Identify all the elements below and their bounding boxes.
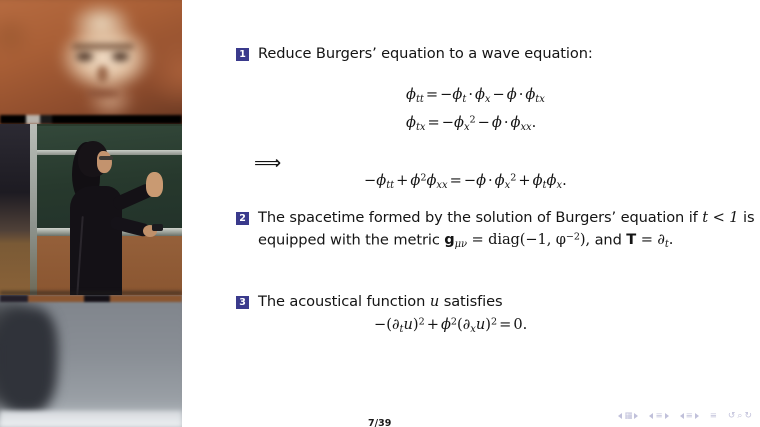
nav-prev-section-icon[interactable] <box>680 413 684 419</box>
nav-next-slide-icon[interactable] <box>634 413 638 419</box>
nav-group-document[interactable]: ≡ <box>710 412 717 421</box>
enumerate-marker-2: 2 <box>236 212 249 225</box>
metric-symbol-g: g <box>444 231 454 248</box>
enumerate-item-3: 3 The acoustical function u satisfies <box>236 292 503 312</box>
panel-bottom-strip <box>0 115 182 124</box>
nav-group-slide[interactable]: ▦ <box>618 412 638 421</box>
presentation-clicker <box>152 224 163 231</box>
vector-symbol-T: T <box>626 231 636 248</box>
item-2-part-b-post: and <box>595 231 622 248</box>
speaker-glasses <box>99 156 113 160</box>
face-eye-left <box>76 52 93 61</box>
face-nose <box>97 66 108 83</box>
nav-section-icon[interactable]: ≡ <box>686 412 693 421</box>
panel-top-strip <box>0 295 182 302</box>
audience-foreground-silhouette <box>0 309 56 413</box>
item-3-post: satisfies <box>444 293 503 310</box>
speaker-hand-raised <box>146 172 163 197</box>
enumerate-item-2-text: The spacetime formed by the solution of … <box>258 208 756 254</box>
enumerate-marker-3: 3 <box>236 296 249 309</box>
enumerate-item-1-text: Reduce Burgers’ equation to a wave equat… <box>258 44 593 64</box>
item-3-pre: The acoustical function <box>258 293 425 310</box>
video-panel-speaker-face-closeup[interactable] <box>0 0 182 124</box>
face-brow <box>72 44 134 49</box>
video-column <box>0 0 182 427</box>
equation-phi-tx: ϕtx=−ϕx2−ϕ·ϕxx. <box>406 114 536 133</box>
condition-t-less-than-one: t < 1 <box>702 209 738 226</box>
enumerate-marker-1: 1 <box>236 48 249 61</box>
metric-exponent: −2 <box>566 232 580 243</box>
equation-phi-tt-render: ϕtt=−ϕt·ϕx−ϕ·ϕtx <box>406 86 545 103</box>
equation-eikonal: −(∂tu)2+ϕ2(∂xu)2=0. <box>374 316 527 335</box>
metric-close: ), <box>580 231 590 248</box>
slide-content: 1 Reduce Burgers’ equation to a wave equ… <box>182 0 760 427</box>
enumerate-item-3-text: The acoustical function u satisfies <box>258 292 503 312</box>
door-frame <box>30 124 37 295</box>
speaker-face <box>97 151 112 173</box>
metric-tensor-expression: gμν = diag(−1, φ−2), <box>444 231 590 248</box>
equation-phi-tt: ϕtt=−ϕt·ϕx−ϕ·ϕtx <box>406 86 545 105</box>
face-closeup-backdrop <box>0 0 182 124</box>
nav-prev-slide-icon[interactable] <box>618 413 622 419</box>
nav-group-subsection[interactable]: ≡ <box>649 412 668 421</box>
equation-phi-tx-render: ϕtx=−ϕx2−ϕ·ϕxx. <box>406 114 536 131</box>
audience-desk-edge <box>0 411 182 427</box>
metric-indices: μν <box>455 239 467 250</box>
enumerate-item-1: 1 Reduce Burgers’ equation to a wave equ… <box>236 44 593 64</box>
nav-next-section-icon[interactable] <box>695 413 699 419</box>
nav-slide-icon[interactable]: ▦ <box>624 412 632 421</box>
equation-wave-form: −ϕtt+ϕ2ϕxx=−ϕ·ϕx2+ϕtϕx. <box>364 172 567 191</box>
equation-eikonal-render: −(∂tu)2+ϕ2(∂xu)2=0. <box>374 316 527 333</box>
metric-diag-open: = diag(−1, φ <box>471 231 565 248</box>
face-mouth <box>86 90 120 97</box>
face-eye-right <box>112 52 129 61</box>
implies-arrow: ⟹ <box>254 152 281 174</box>
presentation-screen: 1 Reduce Burgers’ equation to a wave equ… <box>0 0 760 427</box>
vector-period: . <box>669 231 674 248</box>
nav-group-section[interactable]: ≡ <box>680 412 699 421</box>
nav-next-subsection-icon[interactable] <box>665 413 669 419</box>
video-panel-speaker-at-chalkboard[interactable] <box>0 124 182 295</box>
nav-forward-icon[interactable]: ↻ <box>744 411 752 421</box>
nav-tools-group[interactable]: ↺ ⌕ ↻ <box>728 411 752 421</box>
timelike-vector-expression: T = ∂t. <box>626 231 673 248</box>
item-2-part-a: The spacetime formed by the solution of … <box>258 209 698 226</box>
nav-subsection-icon[interactable]: ≡ <box>655 412 662 421</box>
beamer-navigation-bar[interactable]: ▦ ≡ ≡ ≡ ↺ ⌕ ↻ <box>618 411 752 421</box>
nav-back-icon[interactable]: ↺ <box>728 411 736 421</box>
enumerate-item-2: 2 The spacetime formed by the solution o… <box>236 208 756 254</box>
nav-prev-subsection-icon[interactable] <box>649 413 653 419</box>
room-left-wall <box>0 124 34 295</box>
nav-search-icon[interactable]: ⌕ <box>737 411 742 421</box>
acoustical-function-u: u <box>430 293 439 310</box>
video-panel-audience-room[interactable] <box>0 295 182 427</box>
vector-eq-partial: = ∂ <box>641 231 665 248</box>
equation-wave-form-render: −ϕtt+ϕ2ϕxx=−ϕ·ϕx2+ϕtϕx. <box>364 172 567 189</box>
nav-document-icon[interactable]: ≡ <box>710 412 717 421</box>
page-indicator: 7/39 <box>368 418 391 427</box>
